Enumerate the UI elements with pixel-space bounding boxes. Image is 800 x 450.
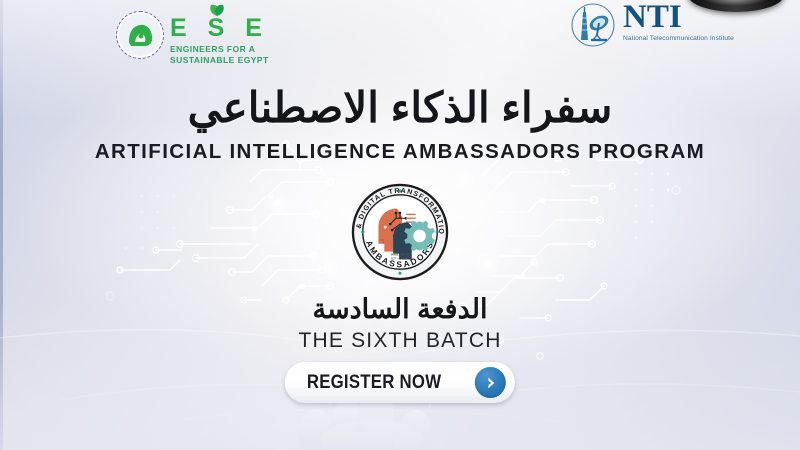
- ese-tagline: ENGINEERS FOR A SUSTAINABLE EGYPT: [170, 44, 269, 65]
- register-now-label: REGISTER NOW: [307, 371, 441, 394]
- ai-ambassadors-emblem-icon: AI & DIGITAL TRANSFORMATION AMBASSADORS: [351, 183, 449, 281]
- register-now-button[interactable]: REGISTER NOW: [285, 362, 515, 403]
- ese-text-block: E S E ENGINEERS FOR A SUSTAINABLE EGYPT: [170, 4, 269, 65]
- nti-text-block: NTI National Telecommunication Institute: [623, 2, 734, 42]
- nti-tower-dish-icon: [566, 2, 620, 50]
- page-title-english: ARTIFICIAL INTELLIGENCE AMBASSADORS PROG…: [0, 140, 800, 164]
- ese-acronym: E S E: [170, 16, 269, 41]
- nti-acronym: NTI: [623, 2, 734, 33]
- ese-logo: E S E ENGINEERS FOR A SUSTAINABLE EGYPT: [116, 4, 269, 65]
- egypt-map-icon: [117, 12, 163, 58]
- ese-badge-icon: [116, 11, 164, 59]
- nti-logo: NTI National Telecommunication Institute: [566, 2, 734, 50]
- batch-title-arabic: الدفعة السادسة: [0, 294, 800, 325]
- nti-tagline: National Telecommunication Institute: [623, 35, 734, 42]
- ese-tagline-line2: SUSTAINABLE EGYPT: [170, 55, 269, 66]
- page-title-arabic: سفراء الذكاء الاصطناعي: [0, 85, 800, 130]
- batch-title-english: THE SIXTH BATCH: [0, 329, 800, 353]
- chevron-right-circle-icon[interactable]: [475, 367, 506, 398]
- left-edge-strip: [0, 0, 3, 450]
- emblem-small-caption-2: ICT - EGYPT: [391, 256, 409, 260]
- poster-canvas: E S E ENGINEERS FOR A SUSTAINABLE EGYPT …: [0, 0, 800, 450]
- ese-tagline-line1: ENGINEERS FOR A: [170, 44, 269, 55]
